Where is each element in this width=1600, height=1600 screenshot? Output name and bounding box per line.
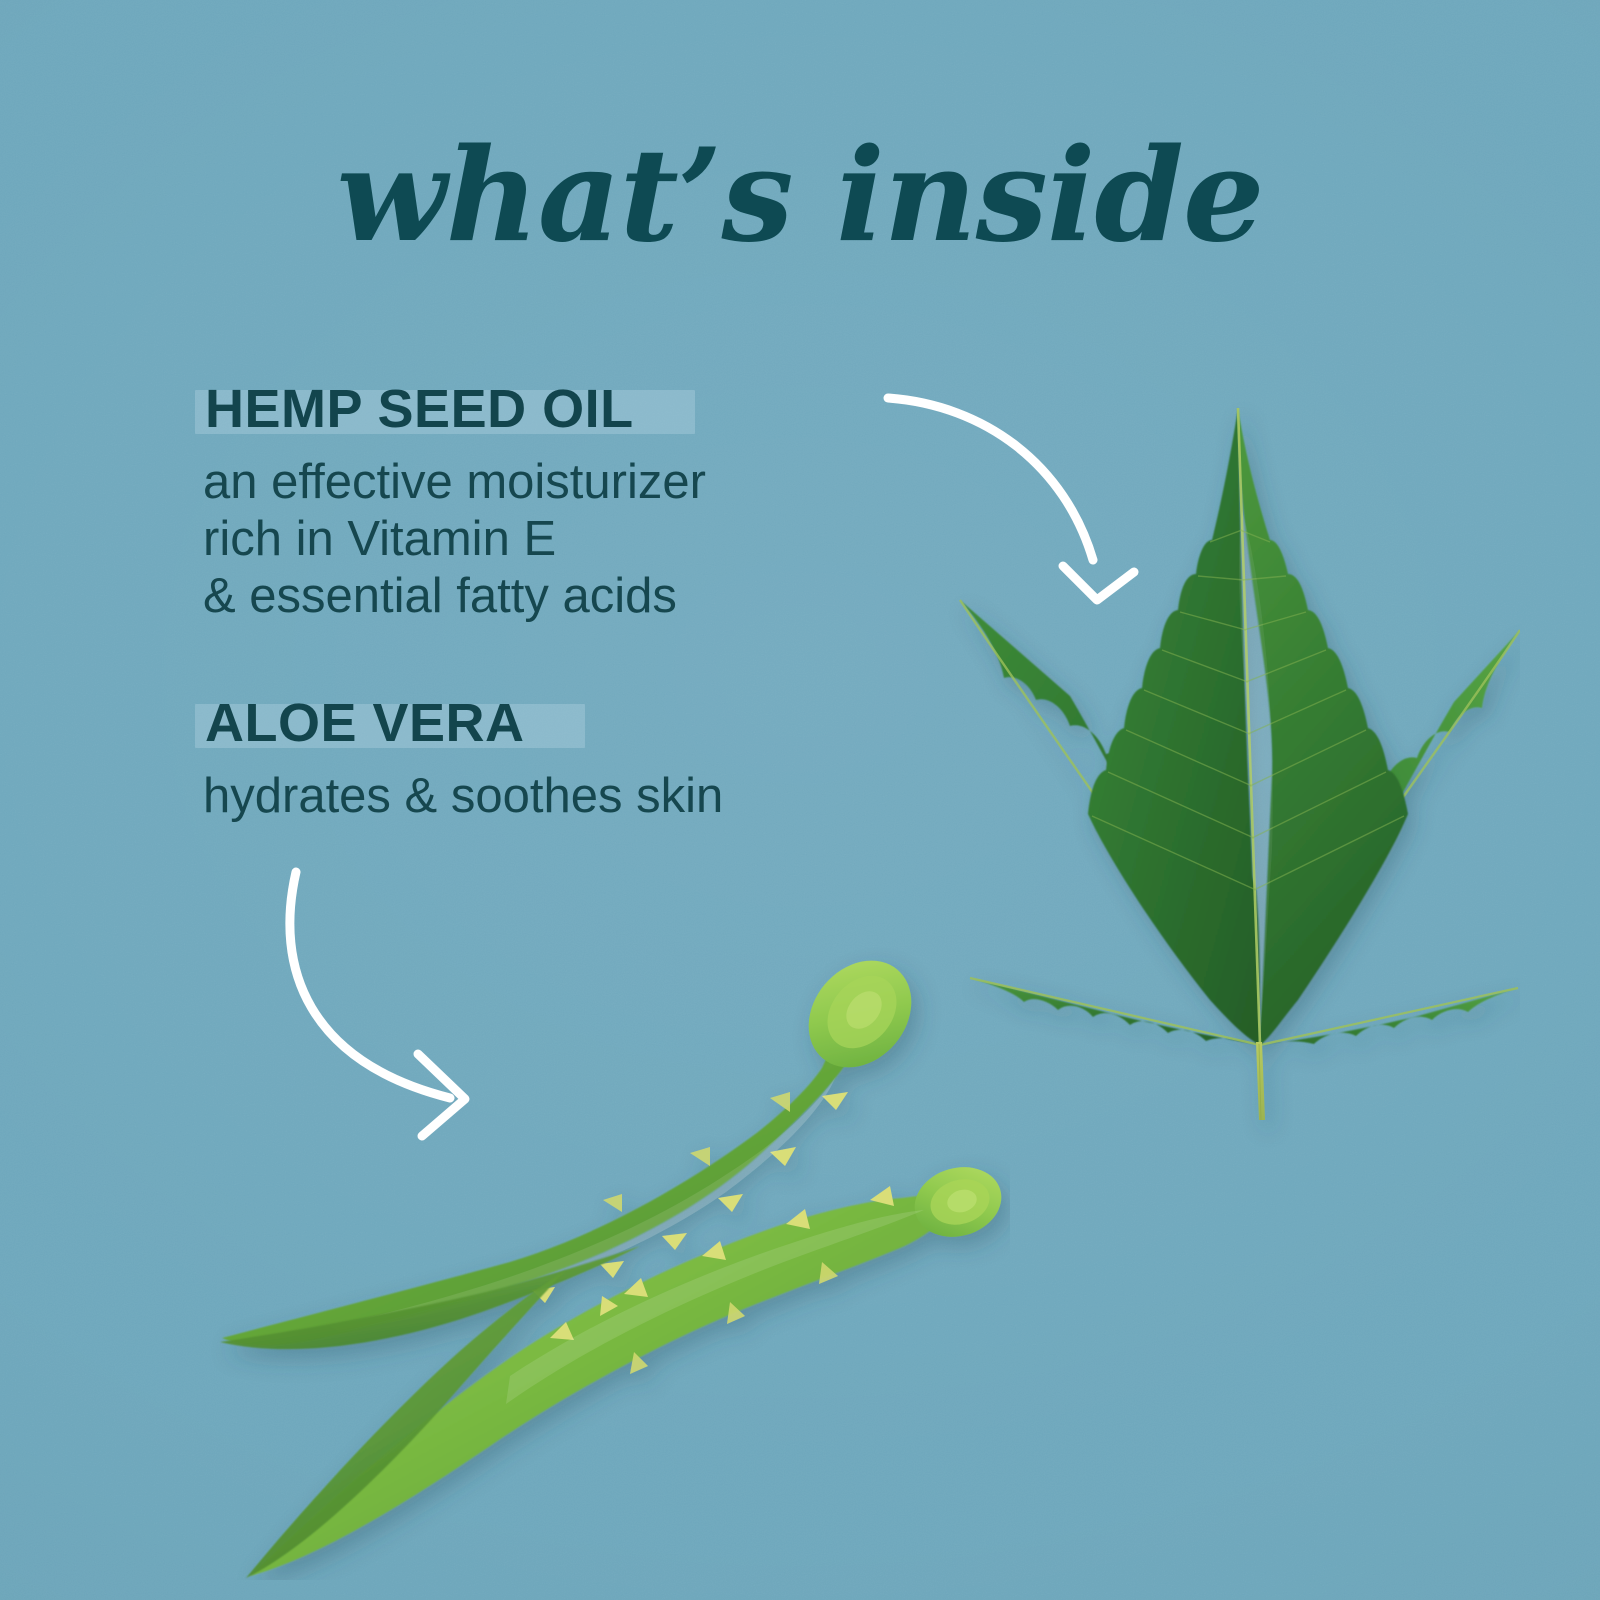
cannabis-hemp-leaf-photo <box>920 390 1520 1150</box>
ingredient-description-hemp-seed-oil: an effective moisturizer rich in Vitamin… <box>203 454 706 625</box>
page-title: what’s inside <box>0 132 1600 260</box>
curved-arrow-down-right-icon <box>250 840 530 1150</box>
ingredient-heading-hemp-seed-oil: HEMP SEED OIL <box>203 378 638 440</box>
ingredient-block-aloe-vera: ALOE VERA hydrates & soothes skin <box>203 692 723 825</box>
ingredient-description-aloe-vera: hydrates & soothes skin <box>203 768 723 825</box>
whats-inside-infographic: what’s inside HEMP SEED OIL an effective… <box>0 0 1600 1600</box>
curved-arrow-down-right-icon <box>850 370 1150 630</box>
ingredient-heading-aloe-vera: ALOE VERA <box>203 692 529 754</box>
aloe-vera-leaves-photo <box>210 860 1010 1580</box>
ingredient-block-hemp-seed-oil: HEMP SEED OIL an effective moisturizer r… <box>203 378 706 625</box>
